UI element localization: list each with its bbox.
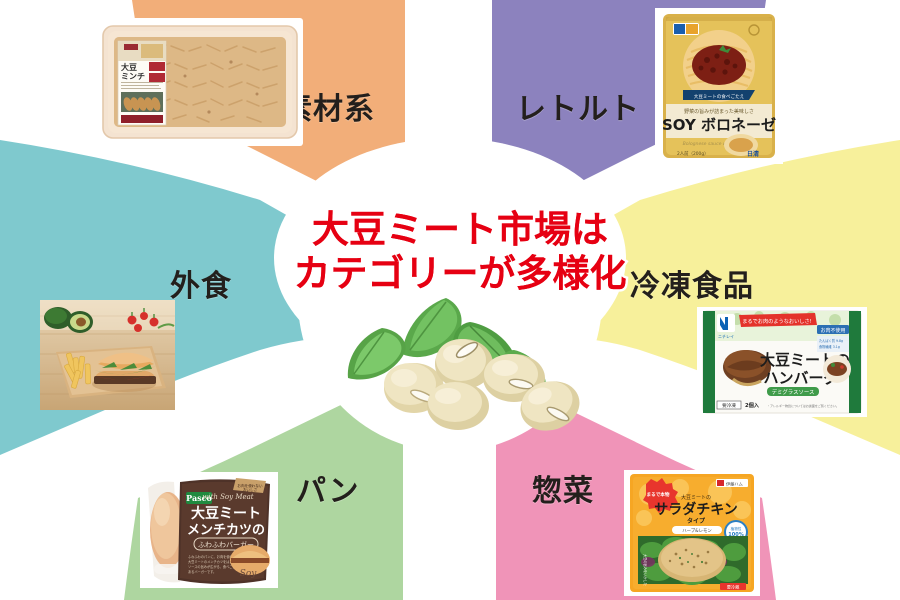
svg-text:ハーブ&レモン: ハーブ&レモン	[682, 527, 712, 534]
product-image-soy-mince-tray[interactable]: 大豆 ミンチ	[97, 18, 303, 146]
svg-text:2人前（200g）: 2人前（200g）	[677, 150, 709, 157]
product-image-soy-bolognese-pouch[interactable]: 大豆ミートの食べごたえ 野菜の旨みが詰まった美味しさ SOY ボロネーゼ Bol…	[655, 8, 783, 164]
product-image-soy-hamburg-frozen[interactable]: ニチレイ まるでお肉のようなおいしさ! お肉不使用 たんぱく質 9.8g 食物繊…	[697, 307, 867, 417]
product-image-soy-burger-restaurant[interactable]	[40, 300, 175, 410]
svg-text:まるで本物: まるで本物	[647, 491, 670, 498]
product-image-soy-salad-chicken[interactable]: 伊藤ハム まるで本物 大豆ミートの サラダチキン タイプ ハーブ&レモン 植物性…	[624, 470, 760, 596]
svg-text:おいしさ: おいしさ	[243, 487, 258, 492]
svg-text:植物性: 植物性	[731, 526, 742, 531]
svg-text:ミンチ: ミンチ	[121, 72, 145, 81]
soybeans-illustration	[318, 292, 588, 432]
svg-text:たんぱく質 9.8g: たんぱく質 9.8g	[819, 338, 843, 343]
svg-text:大豆の旨みをいかした: 大豆の旨みをいかした	[643, 554, 648, 586]
svg-text:大豆: 大豆	[121, 62, 137, 72]
svg-text:要冷蔵: 要冷蔵	[727, 584, 740, 591]
svg-text:2個入: 2個入	[745, 401, 760, 409]
svg-text:メンチカツの: メンチカツの	[187, 523, 265, 538]
product-image-pasco-soy-menchikatsu-burger[interactable]: Pasco お肉を使わない おいしさ with Soy Meat 大豆ミート メ…	[140, 472, 278, 588]
svg-text:日清: 日清	[747, 150, 759, 158]
svg-text:Soy: Soy	[240, 569, 258, 579]
svg-text:ニチレイ: ニチレイ	[718, 334, 734, 339]
page-title-outline: 大豆ミート市場は カテゴリーが多様化	[260, 208, 660, 295]
svg-text:大豆ミートの食べごたえ: 大豆ミートの食べごたえ	[694, 93, 745, 100]
svg-text:伊藤ハム: 伊藤ハム	[726, 481, 743, 488]
svg-text:サラダチキン: サラダチキン	[654, 501, 738, 518]
category-label-souzai[interactable]: 惣菜	[532, 466, 594, 510]
svg-text:大豆ミート: 大豆ミート	[191, 505, 261, 522]
svg-text:食物繊維 3.1g: 食物繊維 3.1g	[819, 344, 840, 349]
svg-text:まるでお肉のようなおいしさ!: まるでお肉のようなおいしさ!	[742, 317, 812, 325]
svg-text:デミグラスソース: デミグラスソース	[772, 388, 815, 396]
svg-text:大豆ミートの: 大豆ミートの	[681, 494, 711, 501]
svg-text:SOY ボロネーゼ: SOY ボロネーゼ	[662, 116, 776, 134]
category-label-pan[interactable]: パン	[296, 466, 360, 510]
category-label-gaishoku[interactable]: 外食	[170, 261, 232, 305]
title-line-1: 大豆ミート市場は	[260, 208, 660, 252]
title-line-2: カテゴリーが多様化	[260, 252, 660, 296]
svg-text:野菜の旨みが詰まった美味しさ: 野菜の旨みが詰まった美味しさ	[684, 108, 754, 115]
infographic-canvas: 素材系 レトルト 冷凍食品 惣菜 パン 外食	[0, 0, 900, 600]
svg-text:要冷凍: 要冷凍	[722, 402, 736, 409]
category-label-retort[interactable]: レトルト	[516, 84, 640, 128]
svg-text:・アレルギー物質についてはお裏面をご覧ください。: ・アレルギー物質についてはお裏面をご覧ください。	[767, 403, 839, 408]
svg-text:あるバーガーです。: あるバーガーです。	[188, 569, 216, 574]
svg-text:タイプ: タイプ	[687, 517, 706, 525]
svg-text:お肉不使用: お肉不使用	[820, 327, 845, 334]
svg-text:with Soy Meat: with Soy Meat	[202, 493, 253, 501]
